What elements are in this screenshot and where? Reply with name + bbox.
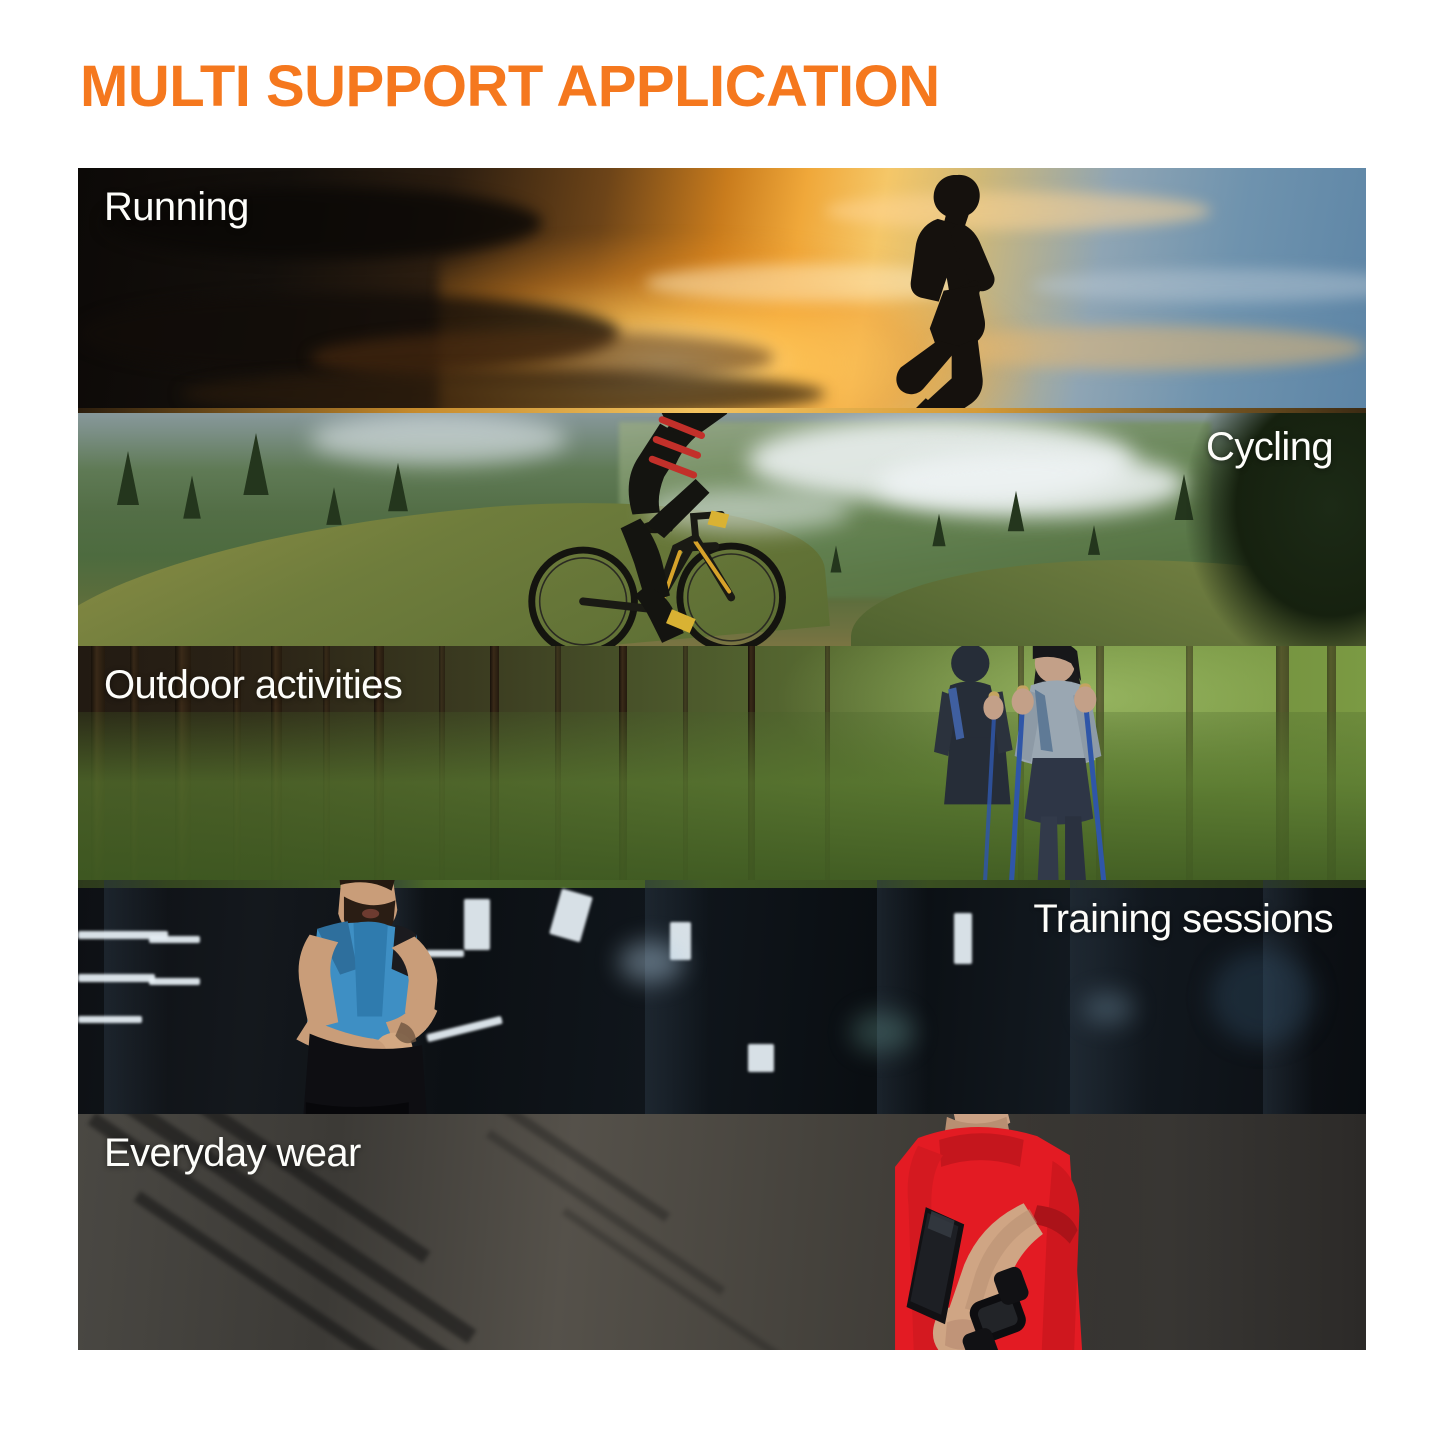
banner-cycling-image xyxy=(78,408,1366,646)
banner-running-image xyxy=(78,168,1366,408)
cyclist-silhouette xyxy=(464,408,825,646)
banner-stack: Running xyxy=(78,168,1366,1350)
banner-outdoor-activities[interactable]: Outdoor activities xyxy=(78,646,1366,880)
banner-cycling-label: Cycling xyxy=(1206,424,1333,470)
banner-training-sessions[interactable]: Training sessions xyxy=(78,880,1366,1114)
runner-silhouette xyxy=(810,168,1093,408)
banner-cycling[interactable]: Cycling xyxy=(78,408,1366,646)
page-title: MULTI SUPPORT APPLICATION xyxy=(80,58,940,116)
banner-running-label: Running xyxy=(104,184,249,230)
banner-training-sessions-label: Training sessions xyxy=(1033,896,1333,942)
banner-running[interactable]: Running xyxy=(78,168,1366,408)
banner-everyday-wear[interactable]: Everyday wear xyxy=(78,1114,1366,1350)
banner-everyday-wear-label: Everyday wear xyxy=(104,1130,361,1176)
banner-outdoor-activities-label: Outdoor activities xyxy=(104,662,402,708)
training-athlete xyxy=(207,880,542,1114)
everyday-wear-person xyxy=(799,1114,1237,1350)
hikers-figures xyxy=(877,646,1160,880)
